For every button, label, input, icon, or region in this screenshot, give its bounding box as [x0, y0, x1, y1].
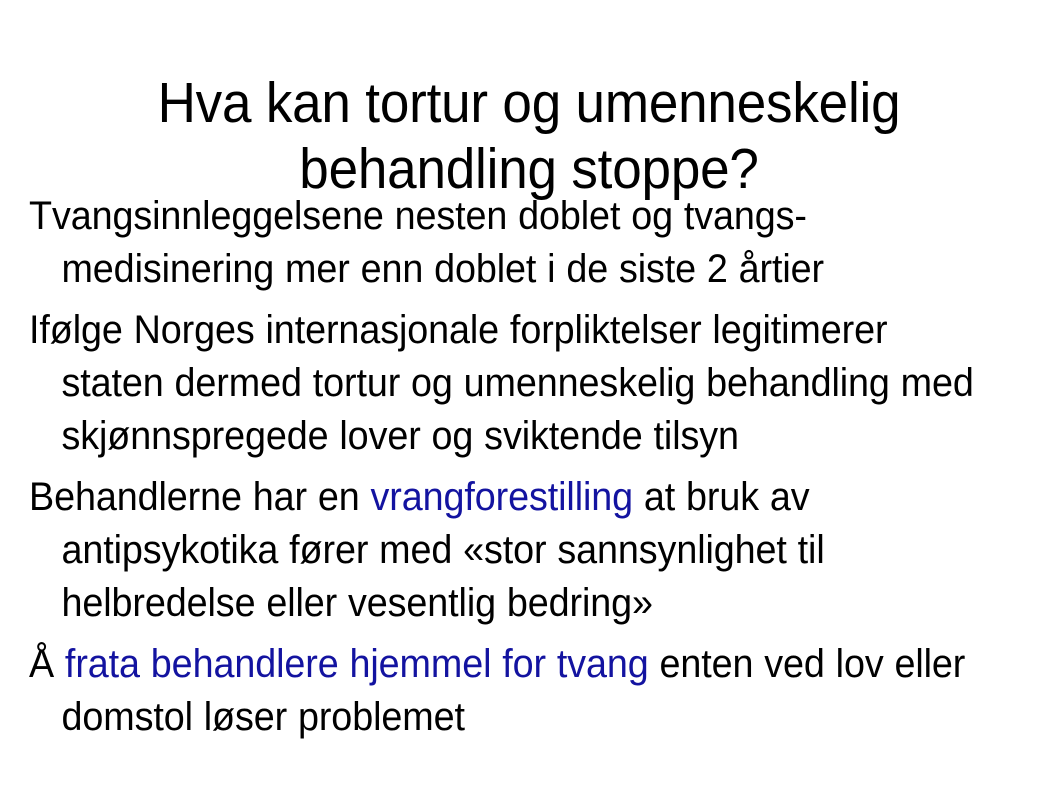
body-text: Ifølge Norges internasjonale forpliktels…: [29, 308, 974, 458]
bullet-paragraph: Å frata behandlere hjemmel for tvang ent…: [29, 638, 984, 744]
presentation-slide: Hva kan tortur og umenneskeligbehandling…: [0, 0, 1058, 794]
bullet-paragraph: Ifølge Norges internasjonale forpliktels…: [29, 304, 984, 463]
highlighted-text: vrangforestilling: [370, 475, 633, 519]
body-text: Å: [29, 642, 65, 686]
slide-title: Hva kan tortur og umenneskeligbehandling…: [37, 70, 1021, 202]
title-line: Hva kan tortur og umenneskelig: [158, 71, 901, 135]
bullet-paragraph: Behandlerne har en vrangforestilling at …: [29, 471, 984, 630]
highlighted-text: frata behandlere hjemmel for tvang: [65, 642, 649, 686]
body-text: Tvangsinnleggelsene nesten doblet og tva…: [29, 194, 824, 291]
bullet-paragraph: Tvangsinnleggelsene nesten doblet og tva…: [29, 190, 984, 296]
body-text: Behandlerne har en: [29, 475, 370, 519]
slide-body: Tvangsinnleggelsene nesten doblet og tva…: [29, 190, 1029, 744]
